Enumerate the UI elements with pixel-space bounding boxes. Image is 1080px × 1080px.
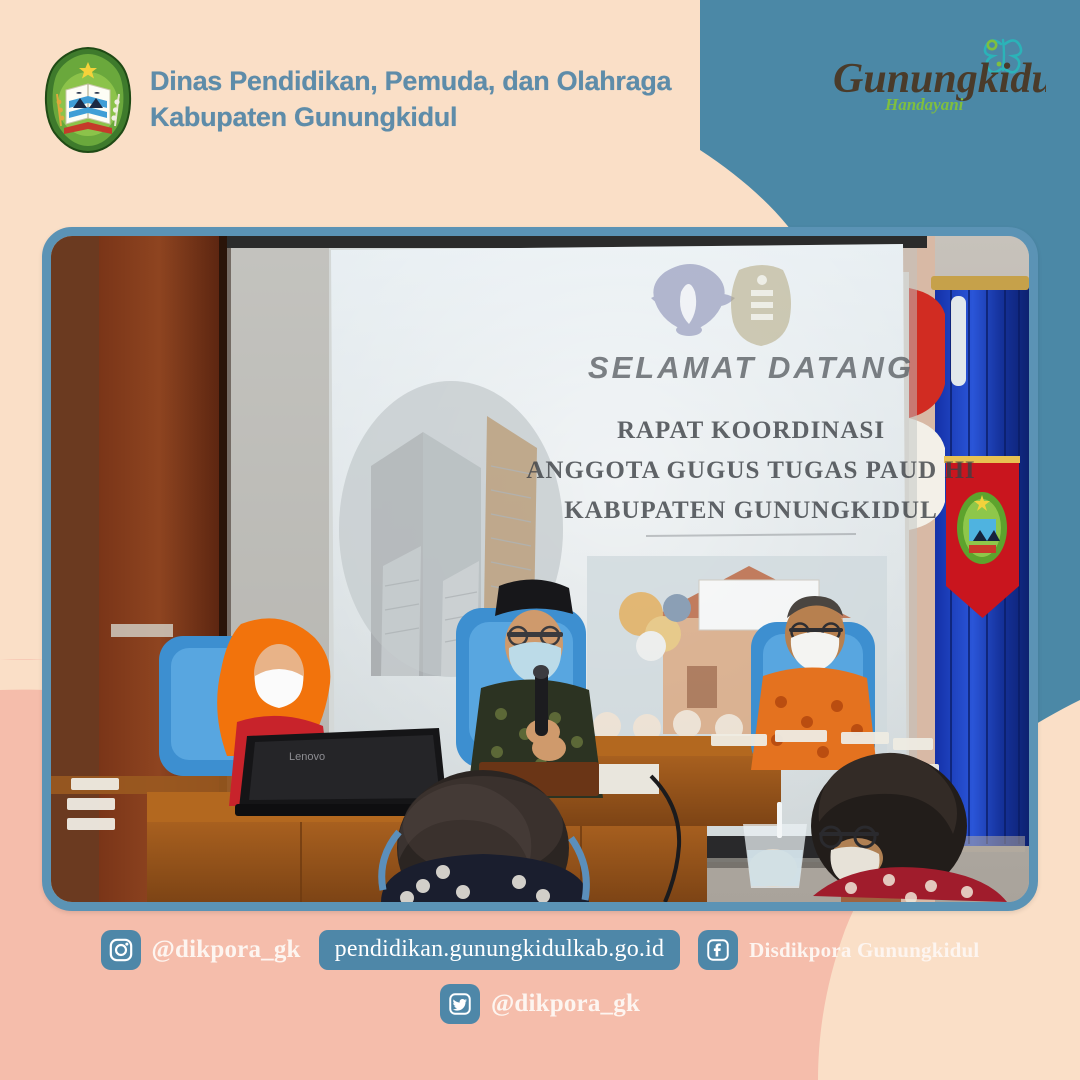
org-title-line1: Dinas Pendidikan, Pemuda, dan Olahraga <box>150 66 671 96</box>
slide-line3: KABUPATEN GUNUNGKIDUL <box>564 497 938 524</box>
gunungkidul-brand-logo: Gunungkidul Handayani <box>831 34 1046 129</box>
twitter-icon[interactable] <box>440 984 480 1024</box>
instagram-handle: @dikpora_gk <box>152 936 301 964</box>
slide-line1: RAPAT KOORDINASI <box>617 417 885 444</box>
gunungkidul-regency-crest-icon <box>42 46 134 154</box>
brand-tagline: Handayani <box>884 95 964 114</box>
meeting-room-photo: SELAMAT DATANG RAPAT KOORDINASI ANGGOTA … <box>51 236 1029 902</box>
org-title-line2: Kabupaten Gunungkidul <box>150 100 671 136</box>
slide-welcome: SELAMAT DATANG <box>588 350 914 385</box>
poster-canvas: Dinas Pendidikan, Pemuda, dan Olahraga K… <box>0 0 1080 1080</box>
twitter-contact[interactable]: @dikpora_gk <box>440 984 640 1024</box>
facebook-icon[interactable] <box>698 930 738 970</box>
poster-footer: @dikpora_gk pendidikan.gunungkidulkab.go… <box>0 920 1080 1080</box>
photo-frame: SELAMAT DATANG RAPAT KOORDINASI ANGGOTA … <box>42 227 1038 911</box>
instagram-contact[interactable]: @dikpora_gk <box>101 930 301 970</box>
facebook-page: Disdikpora Gunungkidul <box>749 938 979 963</box>
svg-text:Lenovo: Lenovo <box>289 751 325 763</box>
twitter-handle: @dikpora_gk <box>491 990 640 1018</box>
website-url[interactable]: pendidikan.gunungkidulkab.go.id <box>319 930 681 970</box>
page-title: Dinas Pendidikan, Pemuda, dan Olahraga K… <box>150 64 671 135</box>
facebook-contact[interactable]: Disdikpora Gunungkidul <box>698 930 979 970</box>
instagram-icon[interactable] <box>101 930 141 970</box>
gunungkidul-crest-logo <box>731 265 791 346</box>
slide-line2: ANGGOTA GUGUS TUGAS PAUD HI <box>526 457 975 484</box>
